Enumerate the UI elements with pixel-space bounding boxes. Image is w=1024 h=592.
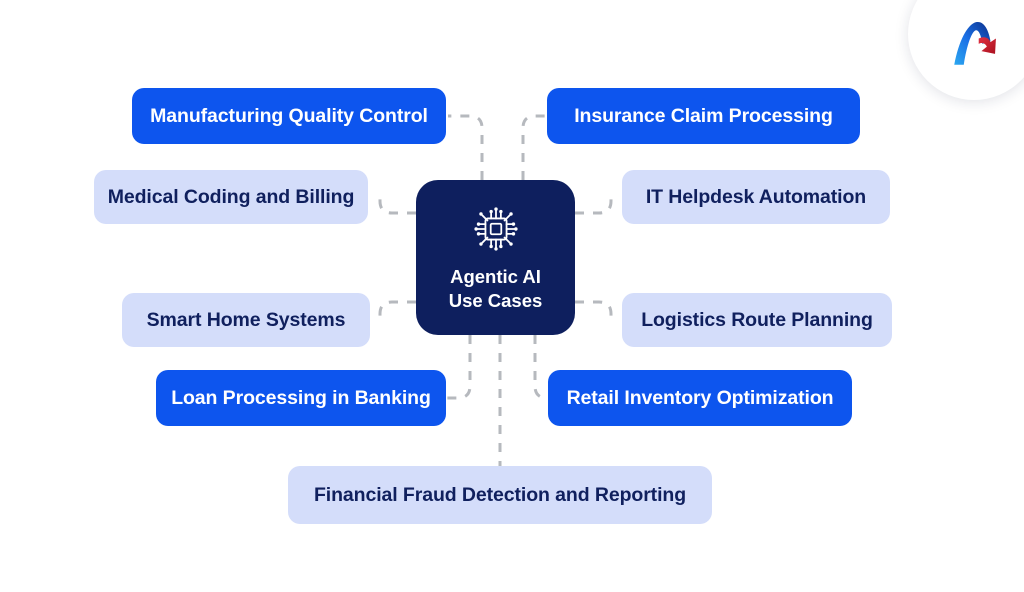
hub-node[interactable]: Agentic AI Use Cases (416, 180, 575, 335)
connector-loan-processing-in-banking (446, 335, 470, 398)
node-retail-inventory-optimization[interactable]: Retail Inventory Optimization (548, 370, 852, 426)
node-financial-fraud-detection-and-reporting[interactable]: Financial Fraud Detection and Reporting (288, 466, 712, 524)
node-smart-home-systems[interactable]: Smart Home Systems (122, 293, 370, 347)
node-it-helpdesk-automation[interactable]: IT Helpdesk Automation (622, 170, 890, 224)
node-label: Financial Fraud Detection and Reporting (314, 484, 686, 506)
diagram-canvas: Agentic AI Use Cases Manufacturing Quali… (0, 0, 1024, 592)
connector-it-helpdesk-automation (575, 197, 611, 213)
node-loan-processing-in-banking[interactable]: Loan Processing in Banking (156, 370, 446, 426)
node-insurance-claim-processing[interactable]: Insurance Claim Processing (547, 88, 860, 144)
company-logo (947, 14, 1005, 72)
node-label: Manufacturing Quality Control (150, 105, 428, 127)
connector-manufacturing-quality-control (448, 116, 482, 180)
node-manufacturing-quality-control[interactable]: Manufacturing Quality Control (132, 88, 446, 144)
connector-logistics-route-planning (575, 302, 611, 320)
node-label: Logistics Route Planning (641, 309, 873, 331)
node-label: IT Helpdesk Automation (646, 186, 866, 208)
connector-smart-home-systems (380, 302, 416, 320)
hub-label: Agentic AI Use Cases (449, 265, 543, 311)
node-medical-coding-and-billing[interactable]: Medical Coding and Billing (94, 170, 368, 224)
node-logistics-route-planning[interactable]: Logistics Route Planning (622, 293, 892, 347)
node-label: Smart Home Systems (147, 309, 346, 331)
node-label: Medical Coding and Billing (108, 186, 355, 208)
node-label: Insurance Claim Processing (574, 105, 833, 127)
node-label: Retail Inventory Optimization (567, 387, 834, 409)
connector-medical-coding-and-billing (380, 197, 416, 213)
node-label: Loan Processing in Banking (171, 387, 431, 409)
microchip-icon (470, 203, 522, 255)
brand-badge (908, 0, 1024, 100)
